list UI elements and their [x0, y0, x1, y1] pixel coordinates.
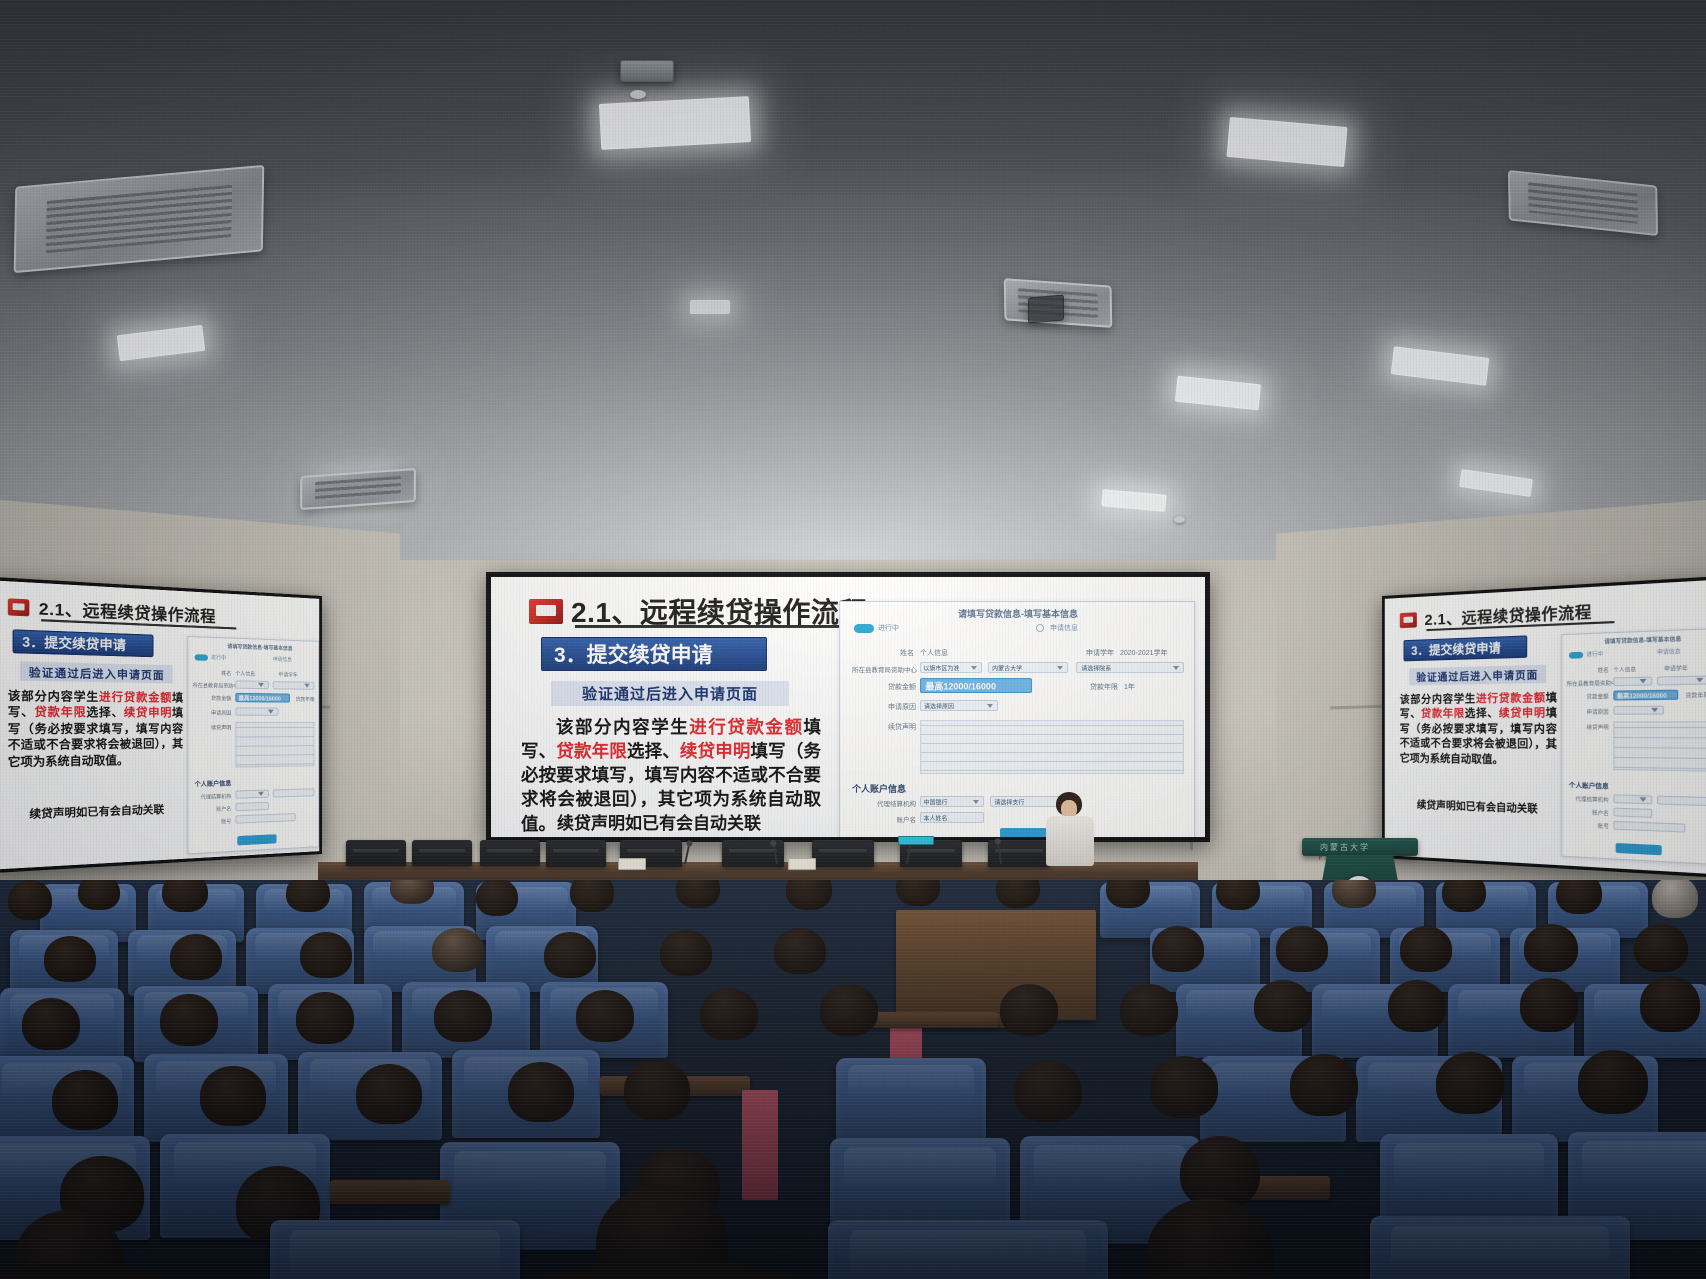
status-tag-label: 进行中: [1586, 650, 1603, 658]
body-seg: 该部分内容学生: [1400, 693, 1476, 706]
audience-head: [1216, 880, 1260, 910]
field-label: 申请学年: [275, 671, 298, 679]
field-input[interactable]: [273, 788, 315, 797]
red-emblem-icon: [8, 598, 30, 616]
audience-head: [1254, 980, 1312, 1032]
body-seg-hl: 进行贷款金额: [99, 691, 172, 705]
body-seg-hl: 贷款年限: [1421, 708, 1465, 721]
field-label: 代理结算机构: [195, 793, 232, 801]
step-label: 申请信息: [273, 655, 292, 663]
field-label: 贷款金额: [1578, 693, 1609, 701]
school-value: 内蒙古大学: [992, 663, 1022, 672]
body-seg: 该部分内容学生: [556, 717, 689, 737]
status-tag: [854, 624, 874, 633]
account-name-input[interactable]: 本人姓名: [920, 812, 984, 823]
county-center-value: 以旗市区为准: [923, 663, 959, 672]
branch-value: 请选择支行: [994, 797, 1024, 806]
audience-head: [162, 880, 208, 912]
body-seg: 选择、: [86, 707, 123, 720]
loan-amount-input[interactable]: 最高12000/16000: [920, 678, 1032, 693]
audience-head: [200, 1066, 266, 1126]
body-seg-hl: 贷款年限: [35, 706, 87, 720]
status-tag-label: 进行中: [878, 623, 899, 633]
slide-section-band: 3．提交续贷申请: [541, 637, 767, 671]
field-label: 申请原因: [876, 702, 916, 712]
audience-head: [576, 990, 634, 1042]
field-label: 贷款金额: [876, 682, 916, 692]
audience-head: [508, 1062, 574, 1122]
body-seg-hl: 续贷申明: [124, 707, 172, 720]
audience-area: [0, 880, 1706, 1279]
red-emblem-icon: [529, 599, 563, 624]
step-label: 申请信息: [1050, 623, 1078, 633]
field-label: 贷款年限: [1078, 682, 1118, 692]
loan-amount-value: 最高12000/16000: [925, 679, 996, 692]
field-label: 所在县教育局资助中心: [852, 664, 916, 674]
armrest: [868, 1012, 998, 1028]
body-seg: 选择、: [627, 741, 680, 761]
audience-head: [1556, 880, 1602, 914]
audience-head: [1150, 1056, 1218, 1118]
field-input[interactable]: [235, 813, 295, 824]
slide-section-band: 3．提交续贷申请: [13, 629, 154, 657]
table-monitor: [898, 836, 934, 845]
audience-head: [1106, 880, 1150, 908]
right-screen: 2.1、远程续贷操作流程 3．提交续贷申请 验证通过后进入申请页面 该部分内容学…: [1382, 576, 1706, 878]
audience-head: [356, 1064, 422, 1124]
stage-chair: [412, 840, 472, 866]
audience-head: [774, 928, 826, 974]
field-value-static: 个人信息: [1613, 665, 1647, 674]
field-input[interactable]: [1613, 677, 1652, 687]
loan-amount-value: 最高12000/16000: [1617, 690, 1667, 700]
audience-head: [820, 984, 878, 1036]
audience-head: [78, 880, 120, 910]
school-select[interactable]: 内蒙古大学: [988, 662, 1068, 673]
field-label: 申请原因: [203, 709, 231, 716]
audience-head: [1014, 1060, 1082, 1122]
slide-section-band: 3．提交续贷申请: [1404, 635, 1528, 661]
reason-select[interactable]: 请选择原因: [920, 700, 998, 711]
account-section-title: 个人账户信息: [195, 778, 232, 788]
field-label: 账号: [1578, 822, 1609, 831]
field-input[interactable]: [235, 802, 269, 811]
left-screen-surface: 2.1、远程续贷操作流程 3．提交续贷申请 验证通过后进入申请页面 该部分内容学…: [0, 580, 319, 870]
field-input[interactable]: [1613, 808, 1652, 818]
body-seg-hl: 进行贷款金额: [1476, 692, 1546, 706]
audience-head: [1120, 984, 1178, 1036]
audience-head: [786, 880, 832, 910]
seat-foreground: [828, 1220, 1108, 1279]
field-input[interactable]: [1613, 794, 1652, 804]
seat-foreground: [1370, 1216, 1630, 1279]
audience-head: [1634, 924, 1688, 972]
form-header: 请填写贷款信息-填写基本信息: [227, 643, 292, 652]
form-panel-left: 请填写贷款信息-填写基本信息 进行中 申请信息 姓名 个人信息 申请学年 所在县…: [187, 636, 319, 854]
field-input[interactable]: [273, 681, 315, 690]
field-input[interactable]: [235, 707, 278, 715]
audience-head: [160, 994, 218, 1046]
field-label: 申请原因: [1578, 708, 1609, 716]
audience-head: [1652, 880, 1698, 918]
stage-chair: [480, 840, 540, 866]
audience-head: [8, 880, 52, 920]
slide-body-right: 该部分内容学生进行贷款金额填写、贷款年限选择、续贷申明填写（务必按要求填写，填写…: [1400, 690, 1557, 768]
county-center-select[interactable]: 以旗市区为准: [920, 662, 982, 673]
audience-head: [1640, 976, 1700, 1032]
field-label: 代理结算机构: [852, 798, 916, 808]
audience-head: [1290, 1054, 1358, 1116]
audience-head: [1276, 926, 1328, 972]
department-value: 请选择院系: [1081, 663, 1111, 672]
audience-head: [1442, 880, 1486, 912]
field-label: 账户名: [876, 814, 916, 824]
audience-head: [432, 928, 484, 972]
audience-head: [170, 934, 222, 980]
audience-head: [676, 880, 720, 908]
account-name-value: 本人姓名: [923, 813, 947, 822]
desk-side-panel: [742, 1090, 778, 1200]
declaration-textarea[interactable]: [1613, 721, 1706, 771]
armrest: [330, 1180, 450, 1204]
audience-head: [44, 936, 96, 982]
field-label: 代理结算机构: [1569, 795, 1609, 804]
body-seg: 选择、: [1465, 708, 1499, 721]
audience-shoulder: [520, 1262, 820, 1279]
body-seg-hl: 贷款年限: [556, 741, 627, 761]
status-tag: [1569, 652, 1583, 659]
field-input[interactable]: [1613, 821, 1685, 833]
reason-value: 请选择原因: [924, 701, 954, 710]
audience-head: [896, 880, 940, 906]
left-screen: 2.1、远程续贷操作流程 3．提交续贷申请 验证通过后进入申请页面 该部分内容学…: [0, 576, 322, 873]
field-value-static: 个人信息: [235, 670, 265, 678]
audience-head: [570, 880, 614, 912]
field-value-static: 2020-2021学年: [1120, 648, 1184, 658]
step-radio[interactable]: [1036, 624, 1044, 632]
status-tag-label: 进行中: [211, 654, 226, 662]
center-screen: 2.1、远程续贷操作流程 3．提交续贷申请 验证通过后进入申请页面 该部分内容学…: [486, 572, 1210, 842]
field-label: 账户名: [203, 805, 231, 813]
audience-head: [1436, 1052, 1504, 1114]
ceiling-lamp: [690, 300, 730, 314]
bank-select[interactable]: 中国银行: [920, 796, 984, 807]
body-seg: 该部分内容学生: [8, 690, 99, 704]
form-header: 请填写贷款信息-填写基本信息: [958, 607, 1078, 620]
form-panel-center: 请填写贷款信息-填写基本信息 进行中 申请信息 姓名 个人信息 申请学年 202…: [839, 601, 1195, 837]
audience-head: [1400, 926, 1452, 972]
field-label: 贷款年限: [292, 696, 315, 703]
field-input[interactable]: [1657, 675, 1706, 685]
field-label: 申请学年: [1659, 664, 1687, 673]
audience-head: [1000, 984, 1058, 1036]
presenter: [1040, 790, 1100, 868]
form-panel-right: 请填写贷款信息-填写基本信息 进行中 申请信息 姓名 个人信息 申请学年 所在县…: [1561, 628, 1706, 865]
field-label: 姓名: [880, 648, 914, 658]
field-label: 姓名: [205, 669, 231, 677]
slide-tail-center: 续贷声明如已有会自动关联: [557, 809, 761, 834]
right-screen-surface: 2.1、远程续贷操作流程 3．提交续贷申请 验证通过后进入申请页面 该部分内容学…: [1385, 580, 1706, 875]
field-value-static: 个人信息: [920, 648, 972, 658]
smoke-detector: [630, 90, 646, 99]
body-seg-hl: 续贷申明: [1499, 707, 1546, 720]
declaration-textarea[interactable]: [235, 722, 314, 768]
audience-head: [1332, 880, 1376, 908]
slide-subtitle: 验证通过后进入申请页面: [1409, 665, 1546, 686]
step-label: 申请信息: [1657, 648, 1681, 657]
audience-head: [1524, 924, 1578, 972]
field-input[interactable]: [235, 680, 269, 689]
field-label: 账号: [203, 818, 231, 827]
auditorium-photo: 内蒙古大学 2.1、远程续贷操作流程 3．提交续贷申请 验证通过后进入申请页面 …: [0, 0, 1706, 1279]
bank-value: 中国银行: [923, 797, 947, 806]
field-label: 续贷声明: [876, 722, 916, 732]
field-label: 续贷声明: [1578, 724, 1609, 732]
ceiling-speaker: [1028, 294, 1064, 323]
audience-head: [1180, 1136, 1260, 1208]
audience-head: [52, 1070, 118, 1130]
field-input[interactable]: [1613, 706, 1664, 715]
slide-tail-left: 续贷声明如已有会自动关联: [29, 800, 164, 821]
row-desk: [896, 910, 1096, 1020]
field-label: 姓名: [1580, 666, 1609, 674]
seat-foreground: [270, 1220, 520, 1279]
slide-body-left: 该部分内容学生进行贷款金额填写、贷款年限选择、续贷申明填写（务必按要求填写，填写…: [8, 688, 183, 771]
field-input[interactable]: [235, 790, 269, 799]
presenter-body: [1046, 816, 1094, 866]
slide-tail-right: 续贷声明如已有会自动关联: [1417, 796, 1538, 816]
field-value-static: 1年: [1124, 682, 1154, 692]
field-label: 贷款年限: [1681, 691, 1706, 699]
audience-head: [1388, 980, 1446, 1032]
account-section-title: 个人账户信息: [1569, 780, 1609, 791]
field-label: 申请学年: [1078, 648, 1114, 658]
field-label: 所在县教育局资助中心: [192, 682, 231, 690]
ceiling-projector: [620, 60, 674, 82]
loan-amount-input[interactable]: 最高12000/16000: [235, 693, 290, 703]
ceiling-lamp: [599, 96, 751, 150]
smoke-detector: [1174, 516, 1185, 523]
audience-head: [300, 932, 352, 978]
account-section-title: 个人账户信息: [852, 782, 906, 795]
audience-shoulder: [0, 1264, 186, 1279]
stage-chair: [346, 840, 406, 866]
form-header: 请填写贷款信息-填写基本信息: [1604, 635, 1681, 646]
slide-subtitle: 验证通过后进入申请页面: [551, 681, 789, 706]
seat: [836, 1058, 986, 1146]
nameplate: [618, 858, 646, 870]
audience-head: [700, 988, 758, 1040]
field-label: 贷款金额: [203, 694, 231, 702]
body-seg-hl: 进行贷款金额: [689, 717, 803, 737]
audience-head: [286, 880, 330, 912]
audience-head: [544, 932, 596, 978]
audience-head: [1152, 926, 1204, 972]
status-tag: [195, 654, 208, 661]
field-label: 账户名: [1578, 809, 1609, 818]
field-input[interactable]: [1657, 796, 1706, 807]
loan-amount-input[interactable]: 最高12000/16000: [1613, 690, 1678, 701]
lectern-university-name: 内蒙古大学: [1320, 842, 1370, 853]
stage-chair: [546, 840, 606, 867]
audience-head: [1520, 978, 1578, 1032]
audience-head: [1578, 1050, 1648, 1114]
audience-head: [996, 880, 1040, 908]
slide-left: 2.1、远程续贷操作流程 3．提交续贷申请 验证通过后进入申请页面 该部分内容学…: [0, 580, 319, 870]
stage-chair: [812, 840, 874, 867]
submit-button[interactable]: [237, 834, 276, 845]
submit-button[interactable]: [1616, 843, 1662, 855]
slide-subtitle: 验证通过后进入申请页面: [20, 661, 173, 683]
department-select[interactable]: 请选择院系: [1076, 662, 1184, 673]
loan-amount-value: 最高12000/16000: [238, 693, 280, 702]
nameplate: [788, 858, 816, 870]
declaration-textarea[interactable]: [920, 720, 1184, 774]
audience-head: [434, 990, 492, 1042]
audience-head: [624, 1060, 690, 1120]
red-emblem-icon: [1400, 612, 1417, 628]
body-seg-hl: 续贷申明: [680, 741, 751, 761]
audience-head: [390, 880, 434, 904]
audience-head: [476, 880, 518, 916]
ceiling: [0, 0, 1706, 600]
slide-right: 2.1、远程续贷操作流程 3．提交续贷申请 验证通过后进入申请页面 该部分内容学…: [1385, 580, 1706, 875]
audience-head: [22, 998, 80, 1050]
audience-head: [660, 930, 712, 976]
audience-head: [296, 992, 354, 1044]
field-label: 所在县教育局资助中心: [1567, 680, 1609, 688]
field-label: 续贷声明: [203, 724, 231, 731]
